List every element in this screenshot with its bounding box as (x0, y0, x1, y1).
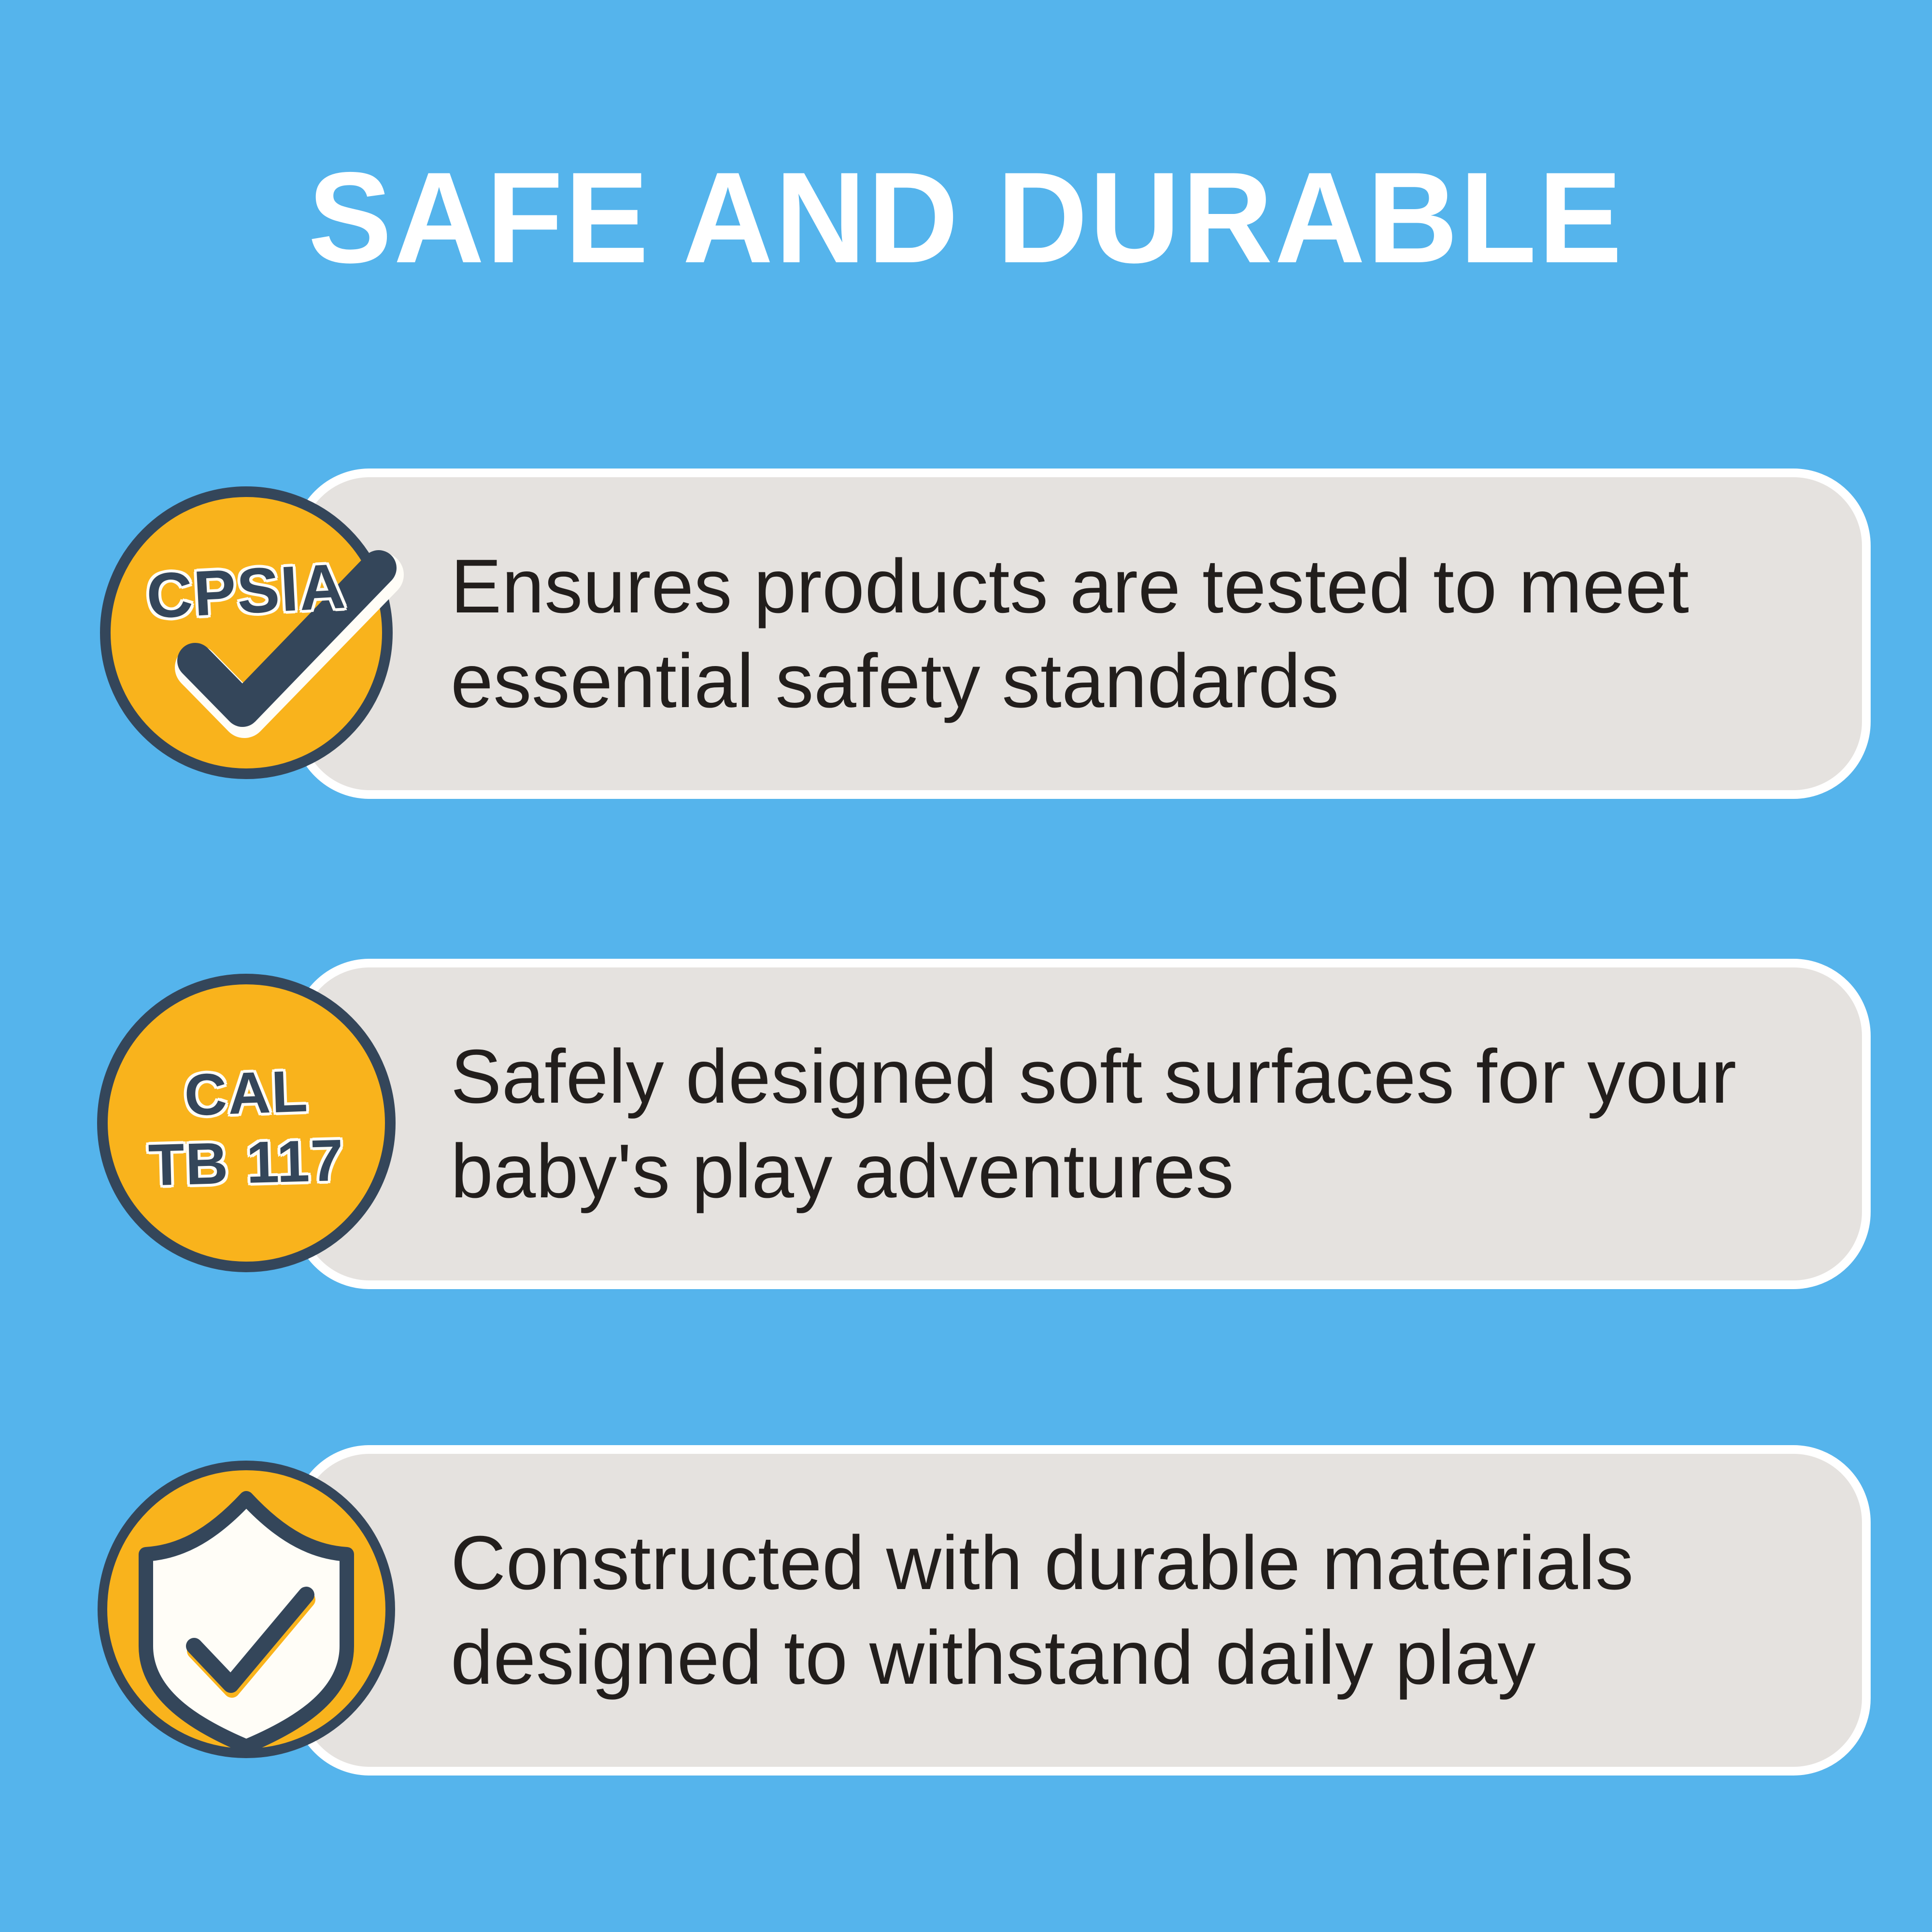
feature-text: Constructed with durable materials desig… (451, 1516, 1827, 1705)
feature-card: Ensures products are tested to meet esse… (292, 469, 1871, 799)
cal-tb-117-badge-icon: CAL TB 117 (92, 968, 401, 1278)
badge-label-line-1: CAL (91, 1053, 402, 1133)
shield-check-badge-icon (92, 1455, 401, 1764)
cpsia-checkmark-badge-icon: CPSIA (92, 478, 401, 787)
feature-card: Constructed with durable materials desig… (292, 1445, 1871, 1776)
infographic-canvas: SAFE AND DURABLE Ensures products are te… (0, 0, 1932, 1932)
feature-row-durable: Constructed with durable materials desig… (0, 1440, 1932, 1778)
feature-text: Ensures products are tested to meet esse… (451, 539, 1827, 728)
feature-card: Safely designed soft surfaces for your b… (292, 959, 1871, 1289)
badge-label-line-2: TB 117 (91, 1124, 402, 1202)
feature-row-cpsia: Ensures products are tested to meet esse… (0, 464, 1932, 802)
page-title: SAFE AND DURABLE (29, 145, 1903, 290)
feature-text: Safely designed soft surfaces for your b… (451, 1029, 1827, 1219)
badge-label: CAL TB 117 (92, 1058, 401, 1197)
feature-row-cal-tb-117: Safely designed soft surfaces for your b… (0, 954, 1932, 1292)
